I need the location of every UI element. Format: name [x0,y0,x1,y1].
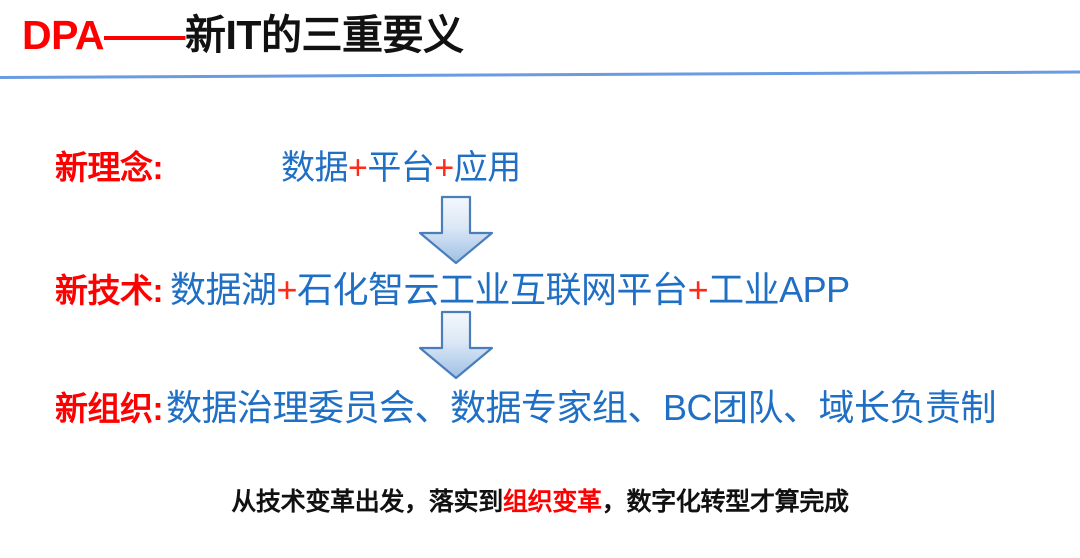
row-organization-label: 新组织: [55,382,163,430]
row-concept-content: 数据+平台+应用 [281,140,521,189]
text-segment: 数据湖 [170,269,277,310]
text-segment: 工业APP [708,269,850,310]
down-arrow-2 [416,310,496,380]
plus-sign: + [434,149,453,187]
title-prefix: DPA—— [22,12,185,58]
text-segment: 平台 [367,149,434,187]
page-title: DPA——新IT的三重要义 [22,12,463,59]
row-concept: 新理念: 数据+平台+应用 [55,140,521,189]
row-organization-content: 数据治理委员会、数据专家组、BC团队、域长负责制 [166,379,996,431]
down-arrow-1 [416,195,496,265]
row-technology: 新技术: 数据湖+石化智云工业互联网平台+工业APP [55,261,850,313]
plus-sign: + [348,149,367,187]
footer-note: 从技术变革出发，落实到组织变革，数字化转型才算完成 [0,482,1080,518]
row-technology-label: 新技术: [55,264,163,312]
plus-sign: + [277,269,298,310]
text-segment: 数据 [281,149,348,187]
plus-sign: + [688,269,709,310]
text-segment: 石化智云工业互联网平台 [297,269,688,310]
text-segment: 应用 [454,149,521,187]
title-divider [0,60,1080,86]
row-organization: 新组织: 数据治理委员会、数据专家组、BC团队、域长负责制 [55,379,996,431]
row-concept-label: 新理念: [55,141,163,189]
footer-part-1: 从技术变革出发，落实到 [231,488,503,516]
title-main: 新IT的三重要义 [185,12,463,58]
footer-highlight: 组织变革 [503,488,602,516]
row-technology-content: 数据湖+石化智云工业互联网平台+工业APP [170,261,850,313]
footer-part-2: ，数字化转型才算完成 [602,488,849,516]
